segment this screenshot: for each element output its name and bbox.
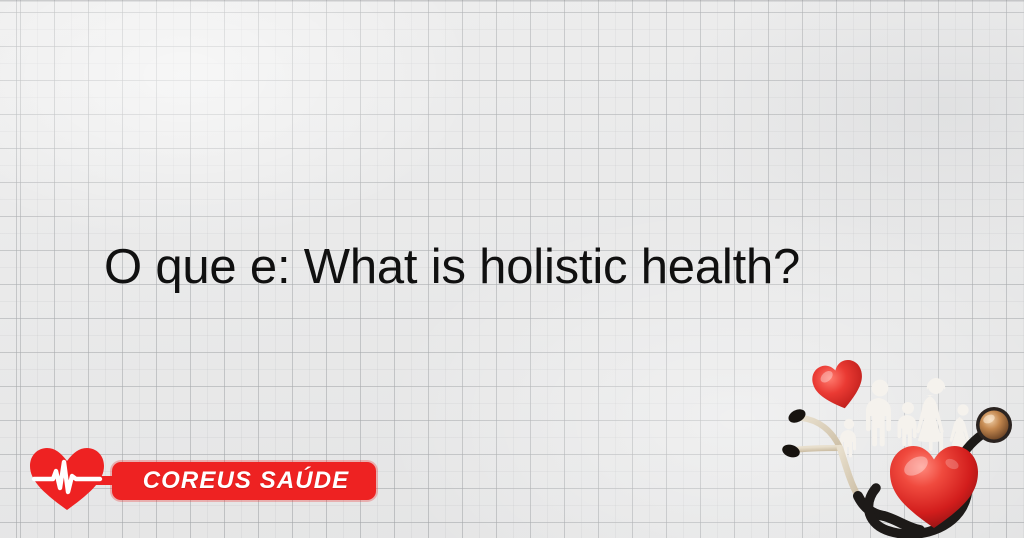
brand-name-pill: COREUS SAÚDE bbox=[112, 462, 376, 500]
heart-pulse-icon bbox=[28, 446, 108, 512]
page-title: O que e: What is holistic health? bbox=[104, 238, 800, 296]
brand-name-label: COREUS SAÚDE bbox=[112, 462, 376, 500]
large-red-heart bbox=[886, 440, 982, 532]
slide-canvas: O que e: What is holistic health? COREUS… bbox=[0, 0, 1024, 538]
top-edge-line bbox=[0, 0, 1024, 2]
medical-collage bbox=[778, 348, 1024, 538]
brand-logo: COREUS SAÚDE bbox=[28, 446, 358, 514]
